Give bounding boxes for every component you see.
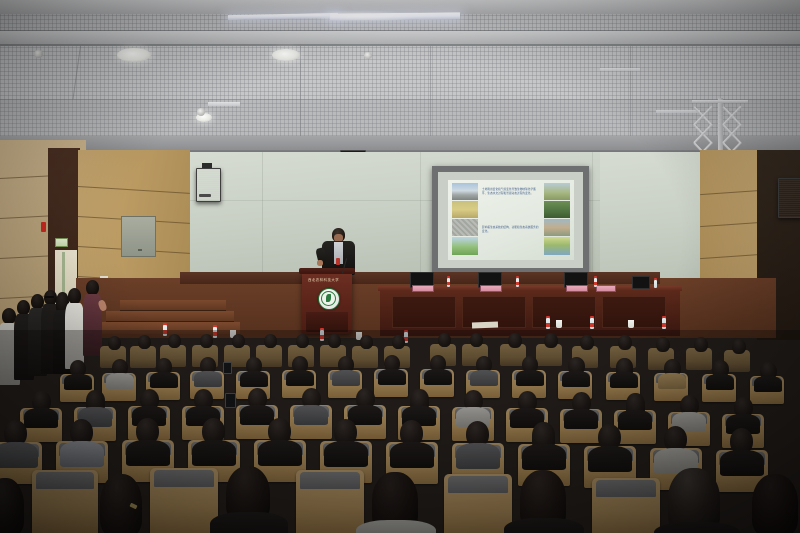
electrical-panel-latch — [138, 249, 142, 251]
seat-cushion — [36, 472, 94, 489]
bottle-cap — [590, 316, 594, 318]
audience-head-front — [0, 478, 24, 533]
water-bottle-f1 — [546, 318, 550, 329]
exit-sign-icon — [55, 238, 68, 247]
audience-head — [264, 334, 277, 348]
audience-head — [168, 334, 181, 348]
water-bottle-t4 — [654, 280, 657, 288]
presenter-hand — [317, 260, 323, 266]
slide-photo-forest — [544, 201, 570, 218]
audience-head — [694, 337, 708, 352]
university-crest-icon — [318, 288, 340, 310]
audience-row-front — [0, 448, 800, 533]
tube-light-5 — [600, 68, 640, 71]
seat — [150, 468, 218, 533]
water-bottle-t1 — [447, 278, 450, 287]
downlight-1 — [117, 48, 151, 62]
wall-speaker-right — [778, 178, 800, 218]
standing-head-6 — [68, 288, 81, 304]
microphone-head-icon — [348, 255, 351, 258]
presenter-tie — [336, 258, 340, 265]
audience-head-front — [752, 474, 798, 533]
head-table-panel-1 — [392, 296, 456, 328]
lectern-lower-face — [306, 312, 348, 332]
bottle-cap — [213, 325, 217, 327]
audience-head — [508, 333, 522, 348]
audience-shoulders-front — [504, 518, 584, 533]
lectern-engraving: 西北农林科技大学 — [308, 277, 339, 282]
audience-head — [200, 334, 213, 348]
bottle-label — [662, 323, 666, 327]
bottle-label — [546, 323, 550, 327]
bottle-cap — [654, 278, 657, 280]
papers-on-desk — [472, 322, 498, 329]
slide-bullet-1: 土地利用变化和气候变化导致生物地球化学循环、生态水文过程和景观动态过程的变化。 — [482, 188, 540, 196]
eyeglasses-icon — [45, 296, 54, 298]
bottle-label — [447, 282, 450, 285]
water-bottle-f2 — [590, 318, 594, 329]
bottle-label — [590, 323, 594, 327]
tube-light-glow — [300, 10, 420, 22]
slide-photo-marshland — [544, 237, 570, 255]
name-placard-3 — [566, 285, 588, 292]
head-table-panel-4 — [602, 296, 666, 328]
ceiling-joint-b — [300, 46, 301, 144]
water-bottle-f3 — [662, 318, 666, 329]
audience-head — [618, 335, 632, 350]
screen-surface: 土地利用变化和气候变化导致生物地球化学循环、生态水文过程和景观动态过程的变化。 … — [438, 172, 583, 268]
speaker-badge-left — [199, 194, 211, 197]
bottle-label — [594, 282, 597, 285]
seat-cushion — [300, 472, 360, 489]
standing-head-7 — [86, 280, 99, 295]
paper-cup-f1 — [556, 320, 562, 328]
ceiling-sprinkler-1 — [34, 50, 43, 58]
bottle-cap — [447, 276, 450, 278]
audience-head — [360, 335, 373, 349]
lift-top-plate — [692, 100, 748, 103]
seat — [32, 470, 98, 533]
audience-head — [108, 336, 121, 350]
smartphone-icon — [225, 393, 236, 408]
audience-head — [438, 333, 451, 347]
bottle-cap — [163, 323, 167, 325]
table-monitor-4 — [632, 276, 650, 289]
ceiling-joint-d — [630, 46, 631, 144]
bottle-cap — [594, 276, 597, 278]
audience-head — [656, 337, 670, 352]
front-wall-seam-v1 — [262, 152, 263, 280]
audience-head-front — [100, 474, 142, 533]
bottle-cap — [516, 276, 519, 278]
ceiling-light-channel — [0, 31, 800, 44]
water-bottle-t2 — [516, 278, 519, 287]
front-wall-seam-v2 — [420, 152, 421, 280]
lecture-hall-photo: 土地利用变化和气候变化导致生物地球化学循环、生态水文过程和景观动态过程的变化。 … — [0, 0, 800, 533]
paper-cup-f2 — [628, 320, 634, 328]
ceiling-joint-c — [430, 46, 431, 144]
audience-head — [296, 334, 309, 348]
slide-photo-urban-texture — [452, 219, 478, 236]
slide-bullet-2: 影响着生态系统的结构、功能和生态系统服务的变化。 — [482, 226, 540, 234]
audience-head — [470, 333, 483, 347]
seat — [296, 470, 364, 533]
seat — [444, 474, 512, 533]
name-placard-2 — [480, 285, 502, 292]
name-placard-4 — [596, 285, 616, 292]
slide-photo-wetland — [544, 183, 570, 200]
slide-photo-golden-field — [452, 201, 478, 218]
audience-shoulders-front — [356, 520, 436, 533]
presentation-slide: 土地利用变化和气候变化导致生物地球化学循环、生态水文过程和景观动态过程的变化。 … — [448, 180, 574, 260]
audience-head — [580, 335, 594, 350]
tube-light-3 — [208, 102, 240, 106]
crest-leaf — [326, 294, 331, 302]
water-bottle-t3 — [594, 278, 597, 287]
audience-head — [328, 334, 341, 348]
audience-shoulders-front — [210, 512, 288, 533]
speaker-bracket-left — [202, 163, 212, 168]
bottle-cap — [662, 316, 666, 318]
audience-head — [138, 335, 151, 349]
audience-head — [544, 333, 558, 348]
audience-head — [392, 335, 405, 349]
bottle-cap — [546, 316, 550, 318]
audience-shoulders-front — [654, 522, 740, 533]
bottle-label — [516, 282, 519, 285]
slide-photo-grassland — [452, 237, 478, 255]
name-placard-1 — [412, 285, 434, 292]
fire-alarm-icon — [41, 222, 46, 232]
lectern: 西北农林科技大学 — [302, 272, 352, 334]
head-table-panel-3 — [532, 296, 596, 328]
projection-screen: 土地利用变化和气候变化导致生物地球化学循环、生态水文过程和景观动态过程的变化。 … — [432, 166, 589, 274]
seat-cushion — [448, 476, 508, 493]
seat-cushion — [154, 470, 214, 487]
audience-head — [232, 334, 245, 348]
slide-photo-cityscape — [452, 183, 478, 200]
ceiling-sprinkler-2 — [364, 52, 372, 59]
downlight-2 — [272, 49, 300, 61]
ceiling-sprinkler-3 — [197, 108, 205, 116]
seat-cushion — [596, 480, 656, 497]
seat — [592, 478, 660, 533]
slide-photo-river-delta — [544, 219, 570, 236]
lectern-top — [299, 268, 355, 274]
front-wall-seam-v3 — [592, 152, 593, 280]
smartphone-icon — [223, 362, 232, 374]
